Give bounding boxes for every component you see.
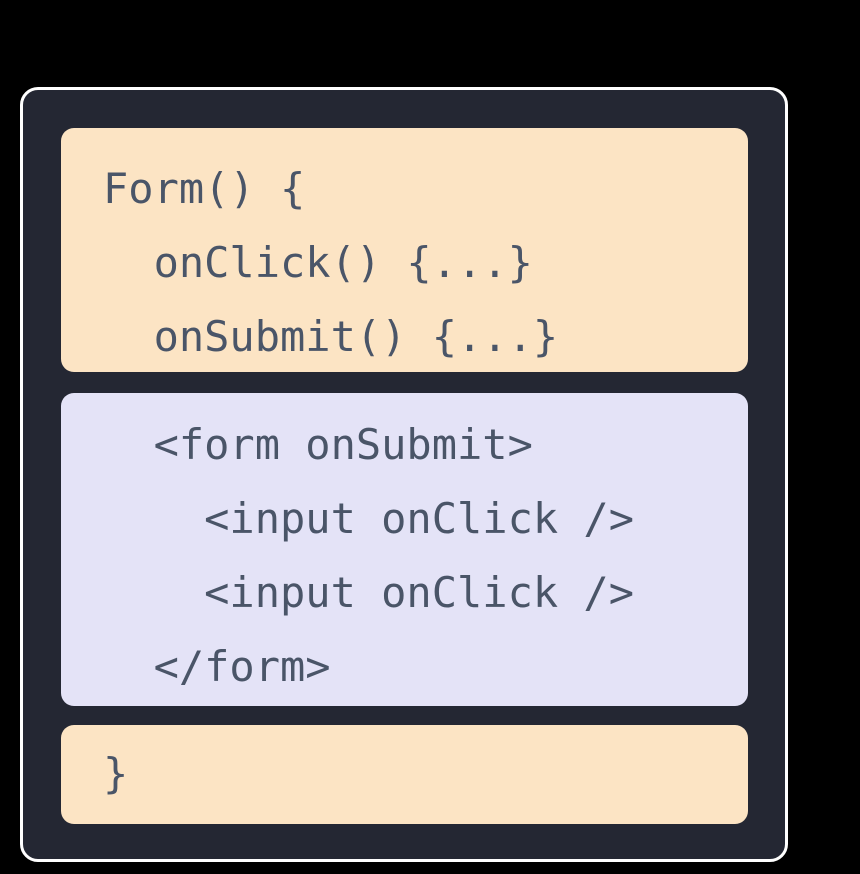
code-block-lines: Form() { onClick() {...} onSubmit() {...… [61,128,748,372]
code-line: <input onClick /> [103,482,748,556]
code-line: <form onSubmit> [103,408,748,482]
code-block-component-header: Form() { onClick() {...} onSubmit() {...… [61,128,748,372]
code-line: </form> [103,630,748,704]
code-line: } [103,737,748,811]
code-line: onSubmit() {...} [103,300,748,372]
code-block-jsx-markup: <form onSubmit> <input onClick /> <input… [61,393,748,706]
code-block-lines: <form onSubmit> <input onClick /> <input… [61,393,748,704]
screenshot-canvas: Form() { onClick() {...} onSubmit() {...… [0,0,860,874]
code-block-lines: } [61,725,748,811]
code-line: Form() { [103,152,748,226]
code-snippet-card: Form() { onClick() {...} onSubmit() {...… [20,87,788,862]
code-line: onClick() {...} [103,226,748,300]
code-block-component-close: } [61,725,748,824]
code-line: <input onClick /> [103,556,748,630]
